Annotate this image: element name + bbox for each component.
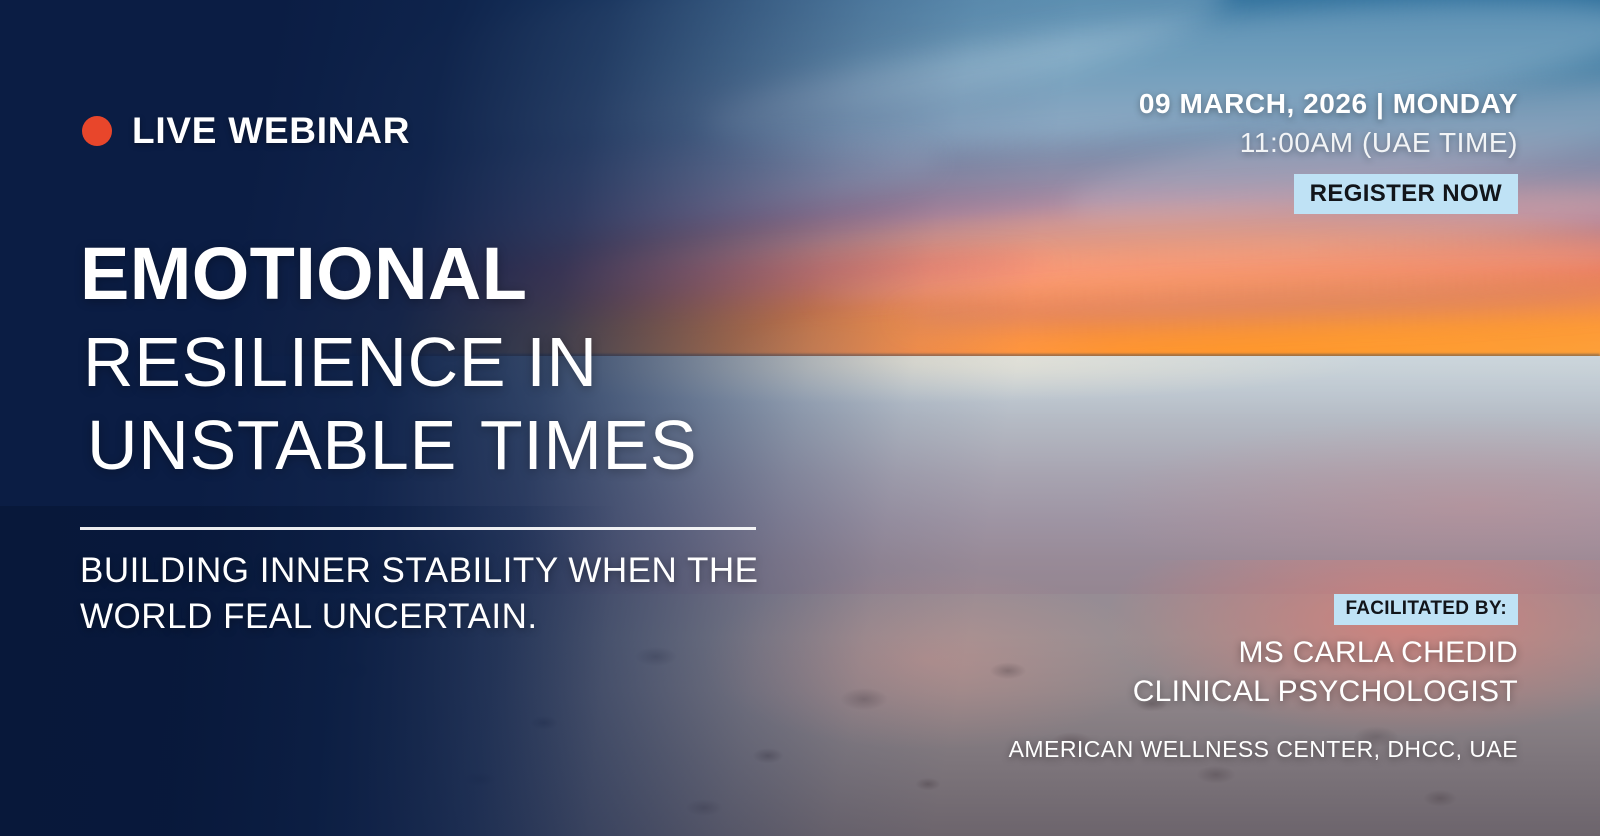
live-indicator-dot-icon bbox=[82, 116, 112, 146]
schedule-block: 09 MARCH, 2026 | MONDAY 11:00AM (UAE TIM… bbox=[1139, 88, 1518, 214]
live-webinar-badge: LIVE WEBINAR bbox=[82, 112, 410, 149]
register-now-button[interactable]: REGISTER NOW bbox=[1294, 174, 1518, 214]
facilitator-role: CLINICAL PSYCHOLOGIST bbox=[1009, 672, 1518, 711]
event-time: 11:00AM (UAE TIME) bbox=[1139, 124, 1518, 162]
facilitator-block: FACILITATED BY: MS CARLA CHEDID CLINICAL… bbox=[1009, 594, 1518, 765]
headline-line-1: EMOTIONAL bbox=[80, 238, 860, 309]
event-date: 09 MARCH, 2026 | MONDAY bbox=[1139, 88, 1518, 120]
headline-divider bbox=[80, 527, 756, 530]
facilitator-organization: AMERICAN WELLNESS CENTER, DHCC, UAE bbox=[1009, 735, 1518, 765]
webinar-promo-banner: LIVE WEBINAR EMOTIONAL RESILIENCE IN UNS… bbox=[0, 0, 1600, 836]
live-webinar-label: LIVE WEBINAR bbox=[132, 112, 410, 149]
banner-content: LIVE WEBINAR EMOTIONAL RESILIENCE IN UNS… bbox=[0, 0, 1600, 836]
facilitated-by-badge: FACILITATED BY: bbox=[1334, 594, 1518, 625]
headline-line-3-rest: TIMES bbox=[480, 406, 697, 484]
headline-group: EMOTIONAL RESILIENCE IN UNSTABLE TIMES bbox=[80, 238, 860, 482]
subtitle-text: BUILDING INNER STABILITY WHEN THE WORLD … bbox=[80, 548, 820, 640]
headline-highlight-word: UNSTABLE bbox=[83, 410, 461, 481]
headline-line-2: RESILIENCE IN bbox=[80, 327, 860, 398]
facilitator-name: MS CARLA CHEDID bbox=[1009, 633, 1518, 672]
headline-line-3: UNSTABLE TIMES bbox=[80, 410, 860, 481]
